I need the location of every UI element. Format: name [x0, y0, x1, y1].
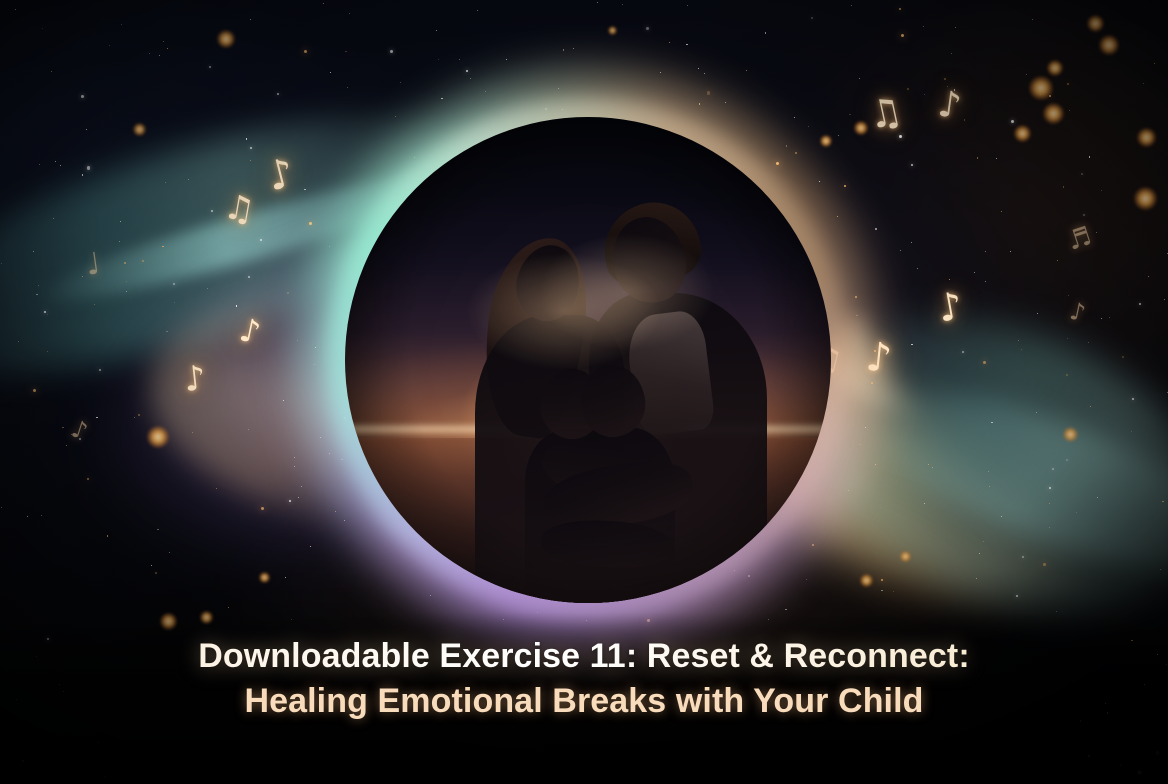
poster-title-block: Downloadable Exercise 11: Reset & Reconn… [0, 636, 1168, 721]
poster-title-line-1: Downloadable Exercise 11: Reset & Reconn… [0, 636, 1168, 676]
poster-canvas: ♪♫♩♪♪♪ ♫♪♪♪♫♬♪ [0, 0, 1168, 784]
poster-title-line-2: Healing Emotional Breaks with Your Child [0, 681, 1168, 721]
